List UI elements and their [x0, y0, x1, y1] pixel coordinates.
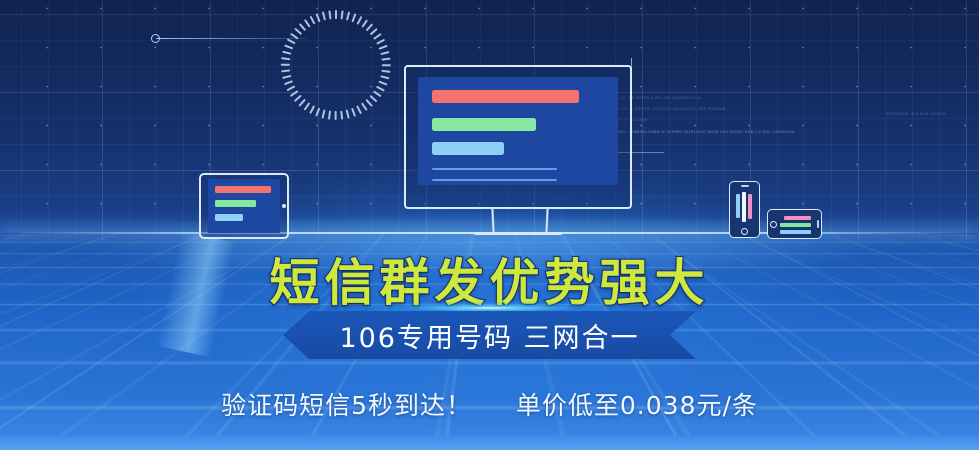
phone-bar-pink: [748, 194, 752, 219]
tablet-screen: [208, 179, 280, 233]
phone-home-button-icon: [741, 228, 748, 235]
phone-bar-cyan: [736, 194, 740, 218]
phone-bar-cyan: [780, 230, 811, 234]
tablet-bar-green: [215, 200, 256, 207]
screen-line: [432, 168, 557, 170]
tablet-illustration: [199, 173, 289, 239]
phone-home-button-icon: [770, 221, 777, 228]
tablet-home-button-icon: [282, 204, 286, 208]
phone-bar-pink: [784, 216, 811, 220]
desktop-monitor-illustration: [404, 65, 632, 209]
phone-horizontal-illustration: [767, 209, 822, 239]
phone-vertical-illustration: [729, 181, 760, 238]
monitor-stand: [491, 209, 548, 233]
phone-bar-white: [742, 192, 746, 222]
screen-bar-cyan: [432, 142, 504, 155]
ribbon-label: 106专用号码 三网合一: [283, 311, 696, 359]
subtitle-left: 验证码短信5秒到达！: [221, 386, 472, 422]
decor-microtext: EVERYONE IS A BUG DA SHA: [886, 112, 946, 116]
screen-line: [432, 179, 557, 181]
dashed-circle-icon: [281, 10, 391, 120]
phone-speaker-icon: [741, 185, 749, 187]
monitor-base: [474, 232, 562, 235]
screen-bar-green: [432, 118, 536, 131]
phone-bar-green: [780, 223, 811, 227]
subtitle-right: 单价低至0.038元/条: [516, 386, 758, 422]
connector-line: [156, 38, 306, 39]
footer-strip: [0, 436, 979, 450]
screen-bar-red: [432, 90, 579, 103]
subtitle-line: 验证码短信5秒到达！ 单价低至0.038元/条: [0, 386, 979, 422]
monitor-screen: [418, 77, 618, 185]
connector-node-icon: [151, 34, 160, 43]
phone-speaker-icon: [817, 220, 819, 228]
sms-promo-banner: IS DOLOR WE ASTER SIZE LOS VACANTICS OI …: [0, 0, 979, 450]
tablet-bar-red: [215, 186, 271, 193]
tablet-bar-cyan: [215, 214, 243, 221]
page-title: 短信群发优势强大: [0, 243, 979, 315]
